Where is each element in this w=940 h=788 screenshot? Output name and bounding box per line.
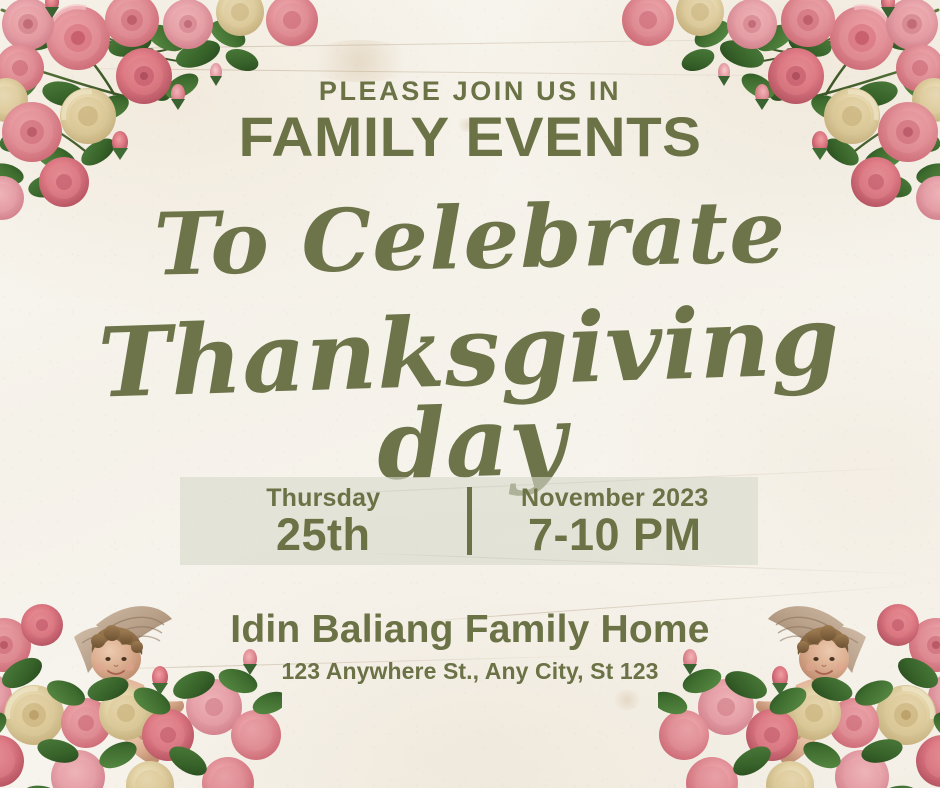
- event-month-year: November 2023: [521, 485, 708, 511]
- event-hours: 7-10 PM: [528, 512, 702, 557]
- venue-name: Idin Baliang Family Home: [0, 608, 940, 652]
- script-headline-line-2: Thanksgiving day: [0, 291, 940, 503]
- poster-text-content: PLEASE JOIN US IN FAMILY EVENTS To Celeb…: [0, 0, 940, 788]
- event-date-block: Thursday 25th: [180, 485, 467, 557]
- event-time-block: November 2023 7-10 PM: [472, 485, 759, 557]
- event-weekday: Thursday: [266, 485, 380, 511]
- page-title: FAMILY EVENTS: [0, 104, 940, 169]
- event-day: 25th: [276, 512, 371, 557]
- thanksgiving-invitation-poster: PLEASE JOIN US IN FAMILY EVENTS To Celeb…: [0, 0, 940, 788]
- script-headline-line-1: To Celebrate: [0, 188, 940, 290]
- venue-address: 123 Anywhere St., Any City, St 123: [0, 658, 940, 685]
- event-details-band: Thursday 25th November 2023 7-10 PM: [180, 477, 758, 565]
- invitation-kicker: PLEASE JOIN US IN: [0, 76, 940, 107]
